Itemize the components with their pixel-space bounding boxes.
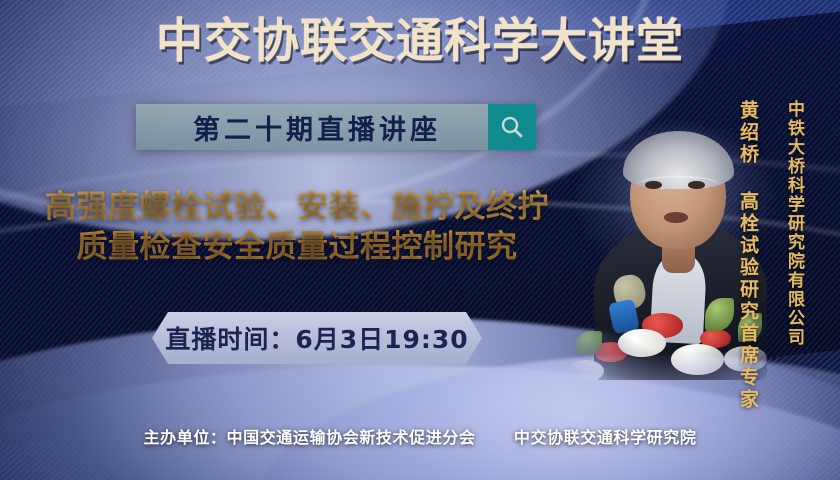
topic-line-1: 高强度螺栓试验、安装、施拧及终拧 [45, 189, 549, 225]
subtitle-label: 第二十期直播讲座 [136, 104, 488, 150]
subtitle-banner: 第二十期直播讲座 [136, 104, 536, 150]
speaker-mouth [664, 212, 688, 222]
search-icon [499, 114, 525, 140]
topic-line-2: 质量检查安全质量过程控制研究 [8, 228, 586, 268]
organizer-primary: 主办单位：中国交通运输协会新技术促进分会 [144, 428, 476, 447]
broadcast-time-badge: 直播时间：6月3日19:30 [152, 312, 482, 364]
organizer-secondary: 中交协联交通科学研究院 [514, 428, 697, 447]
page-title: 中交协联交通科学大讲堂 [0, 18, 840, 65]
speaker-name-title: 黄绍桥 高栓试验研究首席专家 [735, 100, 762, 411]
search-button[interactable] [488, 104, 536, 150]
organizer-footer: 主办单位：中国交通运输协会新技术促进分会 中交协联交通科学研究院 [0, 424, 840, 448]
live-seminar-poster: 中交协联交通科学大讲堂 第二十期直播讲座 高强度螺栓试验、安装、施拧及终拧 质量… [0, 0, 840, 480]
speaker-eye-right [688, 181, 705, 189]
speaker-organization: 中铁大桥科学研究院有限公司 [782, 100, 807, 347]
speaker-eye-left [645, 181, 662, 189]
seminar-topic: 高强度螺栓试验、安装、施拧及终拧 质量检查安全质量过程控制研究 [8, 188, 586, 267]
